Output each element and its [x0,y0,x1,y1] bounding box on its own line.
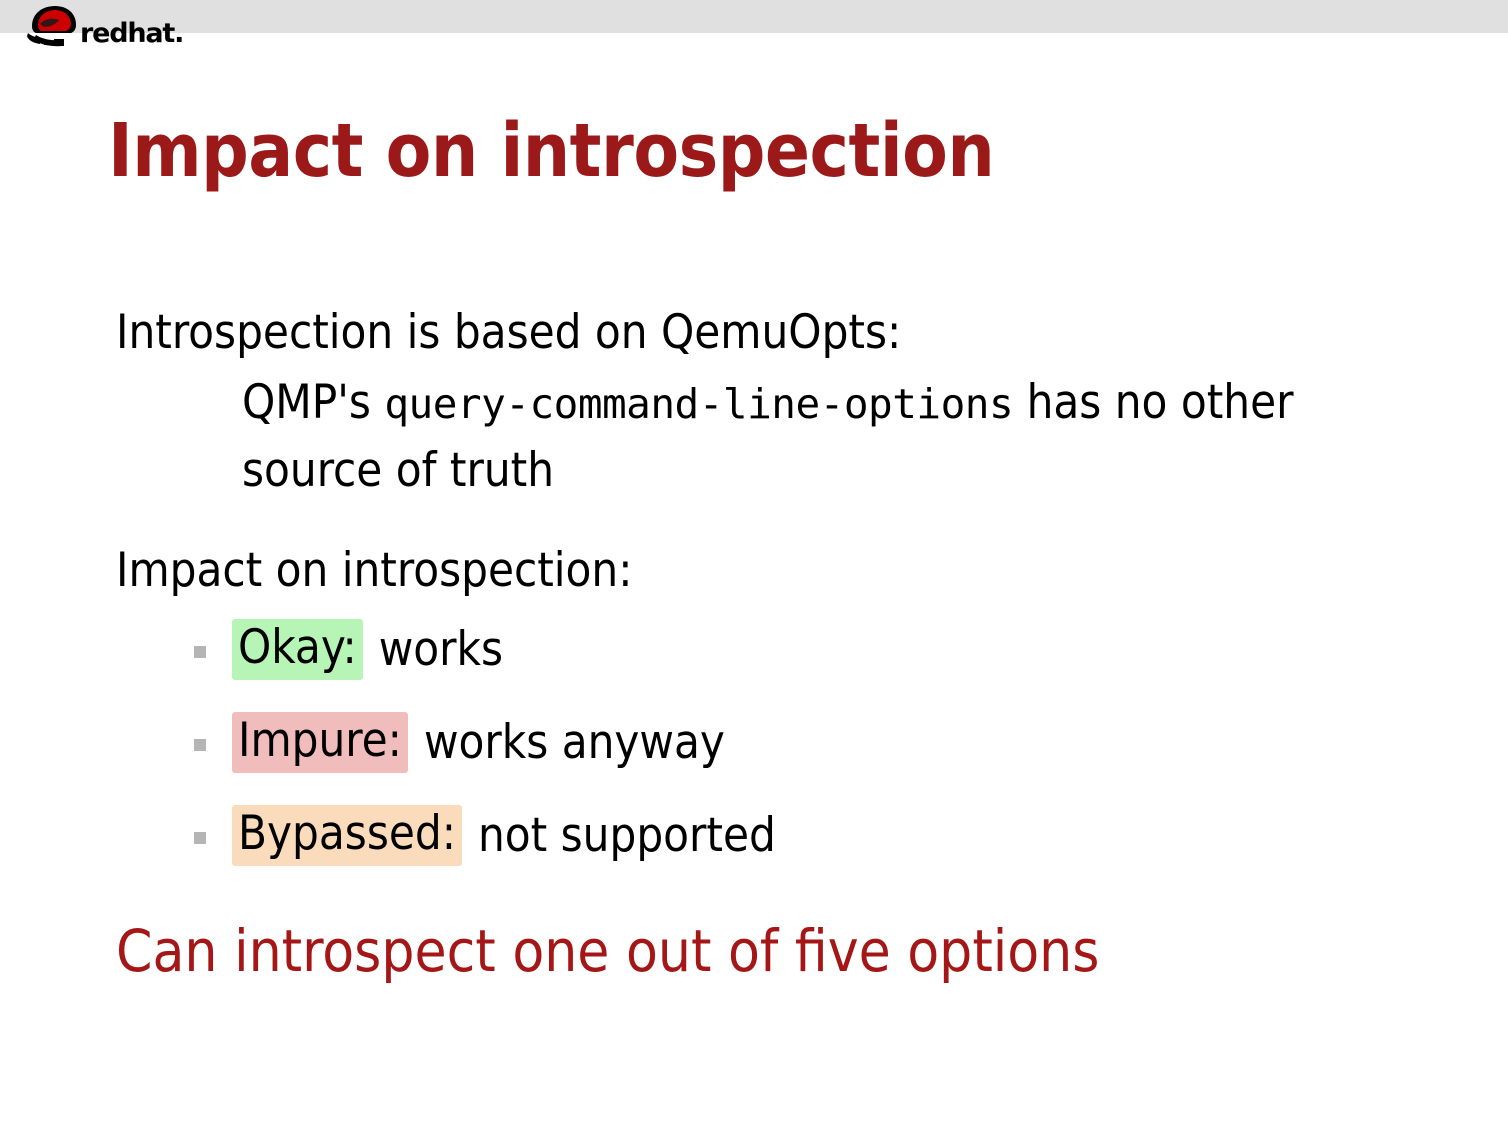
body-line-intro: Introspection is based on QemuOpts: [116,308,1416,357]
list-item: Okay: works [194,619,1416,680]
bullet-text-impure: works anyway [424,719,725,766]
status-badge-okay: Okay: [232,619,363,680]
body-line-impact: Impact on introspection: [116,546,1416,595]
status-badge-bypassed: Bypassed: [232,805,462,866]
square-bullet-icon [194,832,206,844]
square-bullet-icon [194,739,206,751]
bullet-text-bypassed: not supported [478,812,776,859]
wordmark-hat: hat [127,18,174,49]
list-item: Bypassed: not supported [194,805,1416,866]
body-sub-qmp: QMP's query-command-line-options has no … [242,369,1402,503]
qmp-command-code: query-command-line-options [384,380,1013,428]
slide-conclusion: Can introspect one out of five options [116,921,1099,982]
redhat-wordmark: redhat. [80,20,183,47]
list-item: Impure: works anyway [194,712,1416,773]
wordmark-trademark: . [174,18,183,49]
slide-body: Introspection is based on QemuOpts: QMP'… [116,308,1416,898]
header-bar [0,0,1508,33]
square-bullet-icon [194,646,206,658]
status-badge-impure: Impure: [232,712,408,773]
wordmark-red: red [80,18,127,49]
impact-bullet-list: Okay: works Impure: works anyway Bypasse… [194,619,1416,866]
redhat-shadowman-icon [26,4,84,49]
slide-title: Impact on introspection [108,113,994,191]
bullet-text-okay: works [379,626,503,673]
qmp-prefix: QMP's [242,375,384,430]
presentation-slide: redhat. Impact on introspection Introspe… [0,0,1508,1131]
redhat-logo: redhat. [26,4,226,52]
